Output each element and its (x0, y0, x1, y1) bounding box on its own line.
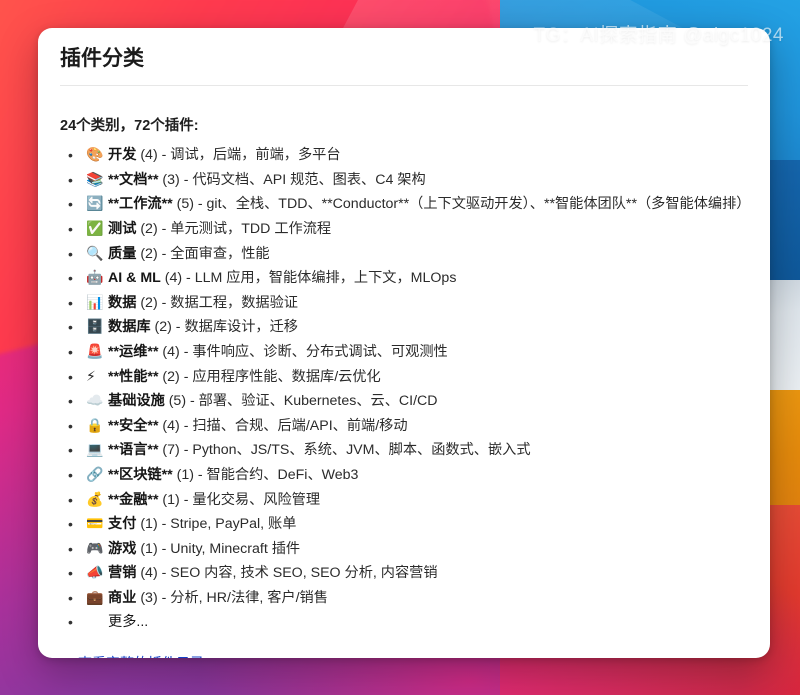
bar-chart-icon: 📊 (86, 291, 104, 316)
list-item: ✅测试 (2) - 单元测试，TDD 工作流程 (60, 217, 748, 242)
category-details: (4) - 事件响应、诊断、分布式调试、可观测性 (158, 344, 447, 360)
category-details: (4) - SEO 内容, 技术 SEO, SEO 分析, 内容营销 (136, 565, 437, 581)
link-icon: 🔗 (86, 463, 104, 488)
category-name: 质量 (108, 246, 136, 262)
books-icon: 📚 (86, 168, 104, 193)
card-header: 插件分类 (38, 28, 770, 98)
list-item: 🎮游戏 (1) - Unity, Minecraft 插件 (60, 537, 748, 562)
category-name: 测试 (108, 221, 136, 237)
briefcase-icon: 💼 (86, 586, 104, 611)
credit-card-icon: 💳 (86, 512, 104, 537)
view-full-catalog-label: 查看完整的插件目录 (78, 655, 204, 658)
laptop-icon: 💻 (86, 438, 104, 463)
list-item: ☁️基础设施 (5) - 部署、验证、Kubernetes、云、CI/CD (60, 389, 748, 414)
category-details: (7) - Python、JS/TS、系统、JVM、脚本、函数式、嵌入式 (158, 442, 530, 458)
game-controller-icon: 🎮 (86, 537, 104, 562)
list-item: ⚡**性能** (2) - 应用程序性能、数据库/云优化 (60, 365, 748, 390)
category-details: (2) - 数据工程，数据验证 (136, 295, 298, 311)
category-name: **区块链** (108, 467, 173, 483)
megaphone-icon: 📣 (86, 561, 104, 586)
check-mark-icon: ✅ (86, 217, 104, 242)
category-name: **工作流** (108, 196, 173, 212)
category-details: (1) - 智能合约、DeFi、Web3 (173, 467, 359, 483)
plugin-categories-card: 插件分类 24个类别，72个插件: 🎨开发 (4) - 调试，后端，前端，多平台… (38, 28, 770, 658)
category-details: (4) - 扫描、合规、后端/API、前端/移动 (158, 418, 407, 434)
view-full-catalog-link[interactable]: →查看完整的插件目录 (60, 653, 204, 658)
robot-icon: 🤖 (86, 266, 104, 291)
category-name: 开发 (108, 147, 136, 163)
cloud-icon: ☁️ (86, 389, 104, 414)
list-item: 📊数据 (2) - 数据工程，数据验证 (60, 291, 748, 316)
category-details: (2) - 数据库设计，迁移 (151, 319, 298, 335)
list-item: 🔄**工作流** (5) - git、全栈、TDD、**Conductor**（… (60, 192, 748, 217)
category-details: (5) - git、全栈、TDD、**Conductor**（上下文驱动开发）、… (173, 196, 751, 212)
list-item: 💼商业 (3) - 分析, HR/法律, 客户/销售 (60, 586, 748, 611)
category-name: **运维** (108, 344, 158, 360)
category-name: 基础设施 (108, 393, 165, 409)
list-item: 💻**语言** (7) - Python、JS/TS、系统、JVM、脚本、函数式… (60, 438, 748, 463)
list-item: 🚨**运维** (4) - 事件响应、诊断、分布式调试、可观测性 (60, 340, 748, 365)
category-name: **文档** (108, 172, 158, 188)
category-list: 🎨开发 (4) - 调试，后端，前端，多平台📚**文档** (3) - 代码文档… (60, 143, 748, 635)
category-details: (4) - 调试，后端，前端，多平台 (136, 147, 340, 163)
siren-icon: 🚨 (86, 340, 104, 365)
list-item: 📚**文档** (3) - 代码文档、API 规范、图表、C4 架构 (60, 168, 748, 193)
list-item: 更多... (60, 610, 748, 635)
card-footer: →查看完整的插件目录 (38, 635, 770, 658)
category-name: 游戏 (108, 541, 136, 557)
card-body: 24个类别，72个插件: 🎨开发 (4) - 调试，后端，前端，多平台📚**文档… (38, 98, 770, 635)
category-details: (5) - 部署、验证、Kubernetes、云、CI/CD (165, 393, 438, 409)
page-title: 插件分类 (60, 46, 748, 71)
category-details: (4) - LLM 应用，智能体编排，上下文，MLOps (161, 270, 457, 286)
category-name: 商业 (108, 590, 136, 606)
arrow-right-icon: → (60, 655, 74, 658)
list-item: 🔒**安全** (4) - 扫描、合规、后端/API、前端/移动 (60, 414, 748, 439)
list-item: 🔍质量 (2) - 全面审查，性能 (60, 242, 748, 267)
list-item: 🎨开发 (4) - 调试，后端，前端，多平台 (60, 143, 748, 168)
list-item: 🔗**区块链** (1) - 智能合约、DeFi、Web3 (60, 463, 748, 488)
category-details: (2) - 应用程序性能、数据库/云优化 (158, 369, 380, 385)
category-name: 支付 (108, 516, 136, 532)
category-name: **性能** (108, 369, 158, 385)
category-name: 数据 (108, 295, 136, 311)
header-divider (60, 85, 748, 86)
category-name: 数据库 (108, 319, 151, 335)
refresh-arrows-icon: 🔄 (86, 192, 104, 217)
file-cabinet-icon: 🗄️ (86, 315, 104, 340)
list-item: 🗄️数据库 (2) - 数据库设计，迁移 (60, 315, 748, 340)
list-item: 🤖AI & ML (4) - LLM 应用，智能体编排，上下文，MLOps (60, 266, 748, 291)
category-name: AI & ML (108, 270, 161, 286)
palette-icon: 🎨 (86, 143, 104, 168)
category-details: (1) - 量化交易、风险管理 (158, 492, 320, 508)
list-item: 💳支付 (1) - Stripe, PayPal, 账单 (60, 512, 748, 537)
list-item: 📣营销 (4) - SEO 内容, 技术 SEO, SEO 分析, 内容营销 (60, 561, 748, 586)
lock-icon: 🔒 (86, 414, 104, 439)
category-name: **金融** (108, 492, 158, 508)
category-name: **语言** (108, 442, 158, 458)
lightning-icon: ⚡ (86, 365, 104, 390)
category-name: **安全** (108, 418, 158, 434)
category-details: (1) - Unity, Minecraft 插件 (136, 541, 300, 557)
category-details: (1) - Stripe, PayPal, 账单 (136, 516, 296, 532)
category-details: (3) - 代码文档、API 规范、图表、C4 架构 (158, 172, 425, 188)
summary-counts: 24个类别，72个插件: (60, 114, 748, 135)
category-name: 营销 (108, 565, 136, 581)
category-name: 更多... (108, 614, 148, 630)
category-details: (3) - 分析, HR/法律, 客户/销售 (136, 590, 328, 606)
magnifier-icon: 🔍 (86, 242, 104, 267)
list-item: 💰**金融** (1) - 量化交易、风险管理 (60, 488, 748, 513)
money-bag-icon: 💰 (86, 488, 104, 513)
category-details: (2) - 全面审查，性能 (136, 246, 269, 262)
category-details: (2) - 单元测试，TDD 工作流程 (136, 221, 331, 237)
